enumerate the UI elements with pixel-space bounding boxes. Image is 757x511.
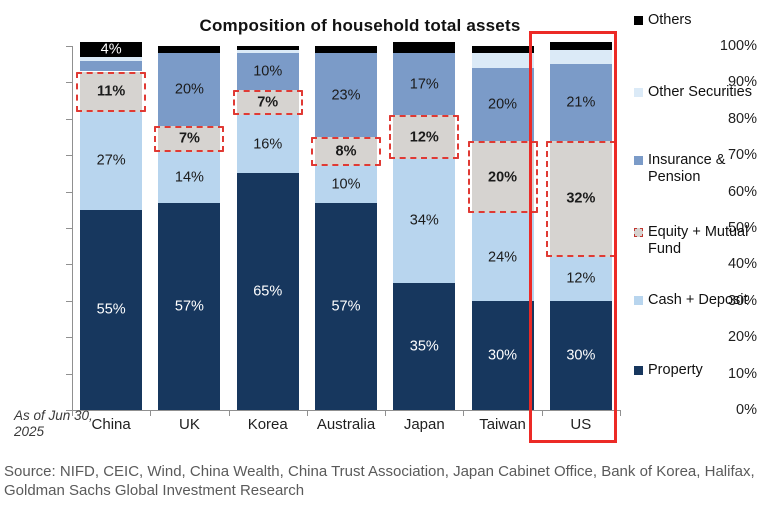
x-axis-line <box>72 410 620 411</box>
x-category-japan[interactable]: Japan <box>383 416 465 433</box>
legend-item-other-securities[interactable]: Other Securities <box>634 84 757 101</box>
segment-insurance-pension[interactable] <box>315 53 377 137</box>
segment-equity-mutual-fund[interactable] <box>80 72 142 112</box>
bar-korea[interactable]: 65%16%7%10% <box>237 46 299 410</box>
x-category-uk[interactable]: UK <box>148 416 230 433</box>
segment-equity-mutual-fund[interactable] <box>550 141 612 257</box>
legend-item-equity-mutual-fund[interactable]: Equity + Mutual Fund <box>634 224 757 258</box>
y-axis-tick-label: 0% <box>695 402 757 418</box>
x-category-australia[interactable]: Australia <box>305 416 387 433</box>
legend-label: Cash + Deposit <box>648 292 748 309</box>
segment-insurance-pension[interactable] <box>237 53 299 89</box>
segment-insurance-pension[interactable] <box>550 64 612 140</box>
y-axis-tick-label: 20% <box>695 329 757 345</box>
y-axis-tick-label: 80% <box>695 111 757 127</box>
y-axis-tick-label: 100% <box>695 38 757 54</box>
segment-others[interactable] <box>237 46 299 50</box>
legend-label: Property <box>648 362 703 379</box>
segment-equity-mutual-fund[interactable] <box>237 90 299 115</box>
segment-others[interactable] <box>80 42 142 57</box>
segment-property[interactable] <box>80 210 142 410</box>
as-of-note: As of Jun 30, 2025 <box>14 408 124 440</box>
segment-cash-deposit[interactable] <box>315 166 377 202</box>
segment-other-securities[interactable] <box>472 53 534 68</box>
legend-swatch-icon <box>634 16 643 25</box>
segment-equity-mutual-fund[interactable] <box>393 115 455 159</box>
legend-swatch-icon <box>634 366 643 375</box>
legend-item-cash-deposit[interactable]: Cash + Deposit <box>634 292 757 309</box>
segment-cash-deposit[interactable] <box>550 257 612 301</box>
segment-insurance-pension[interactable] <box>472 68 534 141</box>
x-category-korea[interactable]: Korea <box>227 416 309 433</box>
bar-japan[interactable]: 35%34%12%17% <box>393 46 455 410</box>
segment-others[interactable] <box>550 42 612 49</box>
legend-swatch-icon <box>634 228 643 237</box>
segment-equity-mutual-fund[interactable] <box>472 141 534 214</box>
segment-other-securities[interactable] <box>237 50 299 54</box>
legend-swatch-icon <box>634 156 643 165</box>
segment-others[interactable] <box>315 46 377 53</box>
bar-taiwan[interactable]: 30%24%20%20% <box>472 46 534 410</box>
segment-cash-deposit[interactable] <box>472 213 534 300</box>
segment-equity-mutual-fund[interactable] <box>315 137 377 166</box>
segment-equity-mutual-fund[interactable] <box>158 126 220 151</box>
segment-other-securities[interactable] <box>80 57 142 61</box>
segment-cash-deposit[interactable] <box>393 159 455 283</box>
segment-property[interactable] <box>315 203 377 410</box>
legend-swatch-icon <box>634 88 643 97</box>
bar-us[interactable]: 30%12%32%21% <box>550 46 612 410</box>
chart-title: Composition of household total assets <box>150 16 570 36</box>
segment-cash-deposit[interactable] <box>237 115 299 173</box>
segment-insurance-pension[interactable] <box>158 53 220 126</box>
source-note: Source: NIFD, CEIC, Wind, China Wealth, … <box>4 462 756 500</box>
legend-label: Equity + Mutual Fund <box>648 224 757 258</box>
segment-others[interactable] <box>393 42 455 53</box>
segment-property[interactable] <box>550 301 612 410</box>
y-axis-tick-label: 40% <box>695 256 757 272</box>
legend-label: Other Securities <box>648 84 752 101</box>
segment-insurance-pension[interactable] <box>393 53 455 115</box>
legend-label: Insurance & Pension <box>648 152 757 186</box>
x-category-taiwan[interactable]: Taiwan <box>462 416 544 433</box>
segment-property[interactable] <box>158 203 220 410</box>
segment-insurance-pension[interactable] <box>80 61 142 72</box>
segment-property[interactable] <box>393 283 455 410</box>
segment-others[interactable] <box>158 46 220 53</box>
legend-item-others[interactable]: Others <box>634 12 757 29</box>
legend-item-property[interactable]: Property <box>634 362 757 379</box>
segment-cash-deposit[interactable] <box>158 152 220 203</box>
bar-china[interactable]: 55%27%11%4% <box>80 46 142 410</box>
segment-property[interactable] <box>472 301 534 410</box>
segment-cash-deposit[interactable] <box>80 112 142 210</box>
legend-label: Others <box>648 12 692 29</box>
x-category-us[interactable]: US <box>540 416 622 433</box>
legend-item-insurance-pension[interactable]: Insurance & Pension <box>634 152 757 186</box>
plot-area: 55%27%11%4%57%14%7%20%65%16%7%10%57%10%8… <box>72 46 620 410</box>
segment-property[interactable] <box>237 173 299 410</box>
bar-uk[interactable]: 57%14%7%20% <box>158 46 220 410</box>
segment-others[interactable] <box>472 46 534 53</box>
segment-other-securities[interactable] <box>550 50 612 65</box>
bar-australia[interactable]: 57%10%8%23% <box>315 46 377 410</box>
chart-container: Composition of household total assets 0%… <box>0 0 757 511</box>
legend-swatch-icon <box>634 296 643 305</box>
